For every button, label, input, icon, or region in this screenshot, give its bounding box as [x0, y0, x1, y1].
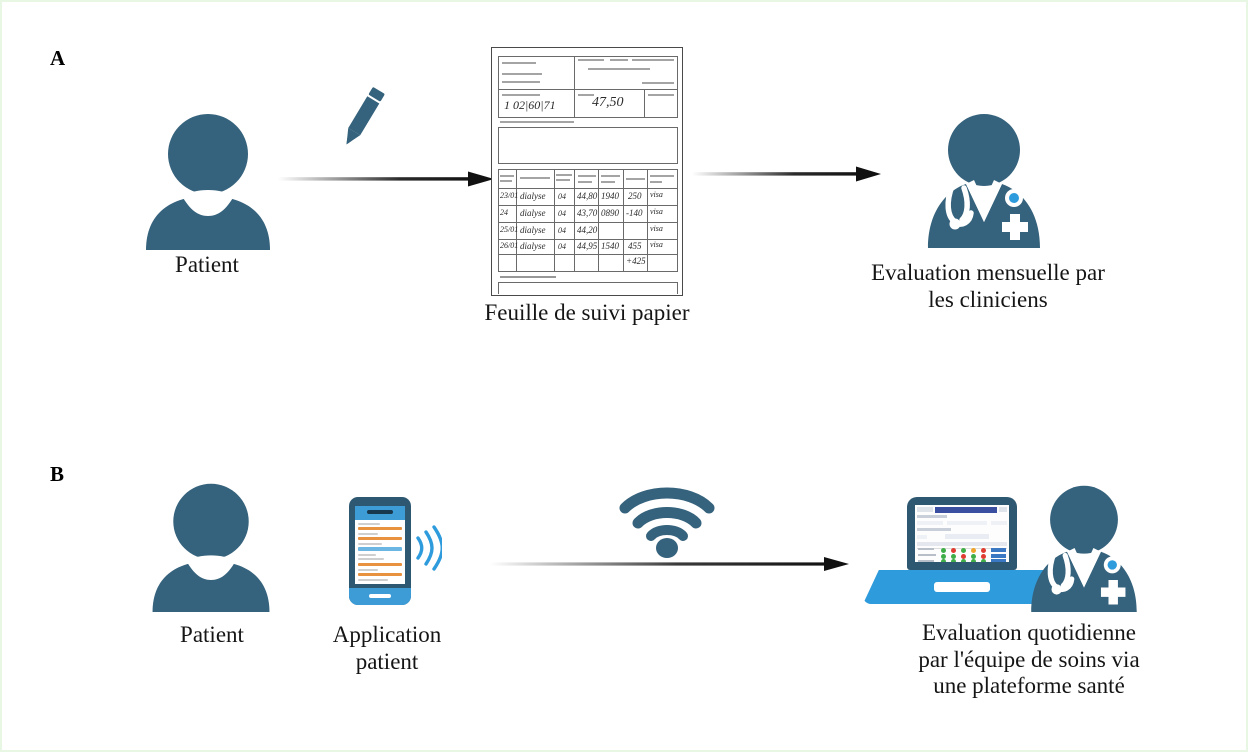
patient-label-a: Patient [112, 252, 302, 279]
patient-person-icon [142, 110, 274, 250]
app-label: Application patient [302, 622, 472, 675]
clinician-label-b: Evaluation quotidienne par l'équipe de s… [864, 620, 1194, 700]
patient-person-icon [148, 480, 274, 612]
paper-tracking-sheet: 1 02|60|71 47,50 [491, 47, 683, 296]
patient-label-b: Patient [117, 622, 307, 649]
signal-waves-icon [414, 524, 442, 572]
pencil-icon [332, 80, 394, 154]
doctor-stethoscope-icon [922, 110, 1046, 248]
arrow-right-icon [490, 552, 850, 578]
doctor-stethoscope-icon [1022, 482, 1146, 612]
clinician-label-a: Evaluation mensuelle par les cliniciens [854, 260, 1122, 313]
paper-form-label: Feuille de suivi papier [457, 300, 717, 327]
panel-b-letter: B [50, 462, 65, 487]
panel-a-letter: A [50, 46, 66, 71]
arrow-right-icon [278, 167, 496, 193]
figure-canvas: A Patient [0, 0, 1248, 752]
wifi-icon [619, 484, 715, 558]
arrow-right-icon [692, 162, 882, 188]
